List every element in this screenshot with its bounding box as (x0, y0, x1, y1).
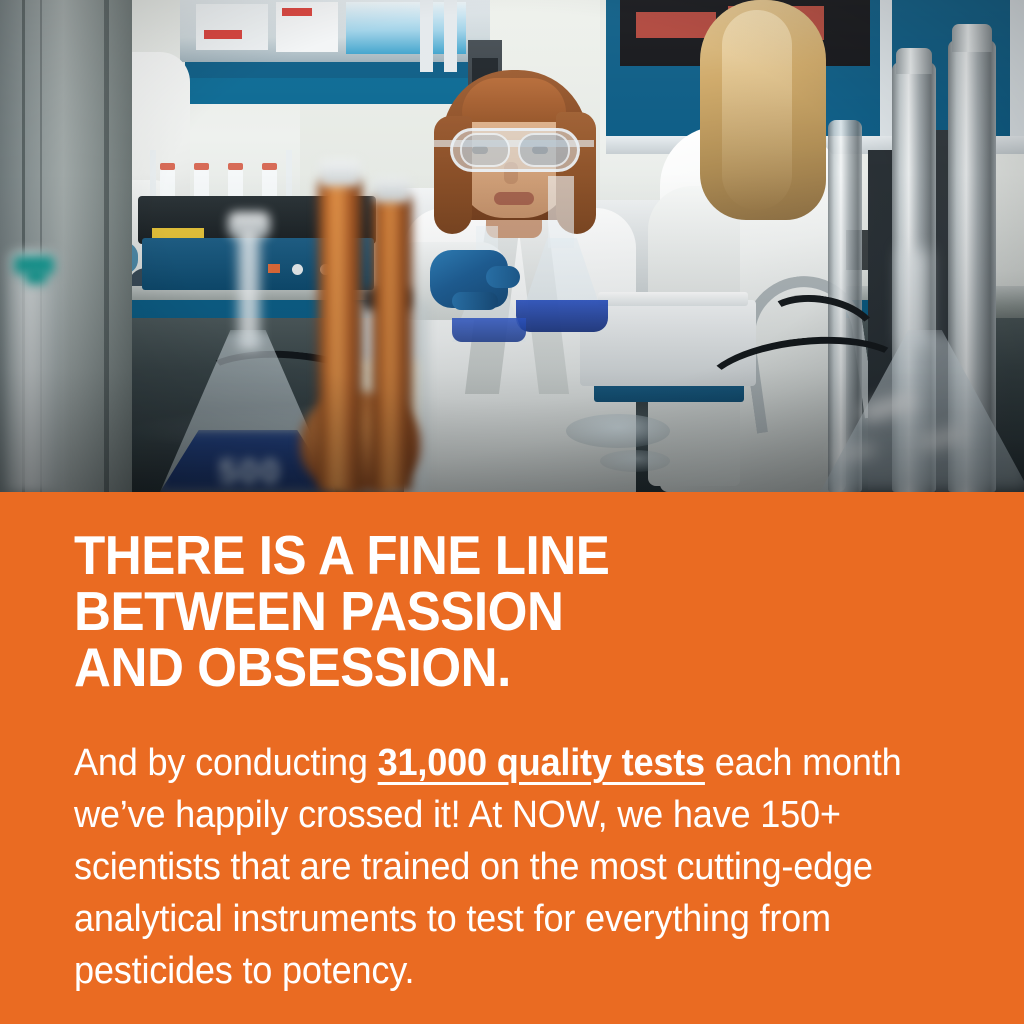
body-copy-before: And by conducting (74, 742, 378, 784)
body-copy-emphasis: 31,000 quality tests (378, 742, 705, 784)
headline: THERE IS A FINE LINE BETWEEN PASSION AND… (74, 527, 911, 695)
orange-message-panel: THERE IS A FINE LINE BETWEEN PASSION AND… (0, 492, 1024, 1024)
photo-vignette (0, 0, 1024, 492)
promotional-poster: 500 THERE IS A FINE LINE BETWEEN PASSION… (0, 0, 1024, 1024)
laboratory-photo: 500 (0, 0, 1024, 492)
body-copy: And by conducting 31,000 quality tests e… (74, 737, 910, 997)
